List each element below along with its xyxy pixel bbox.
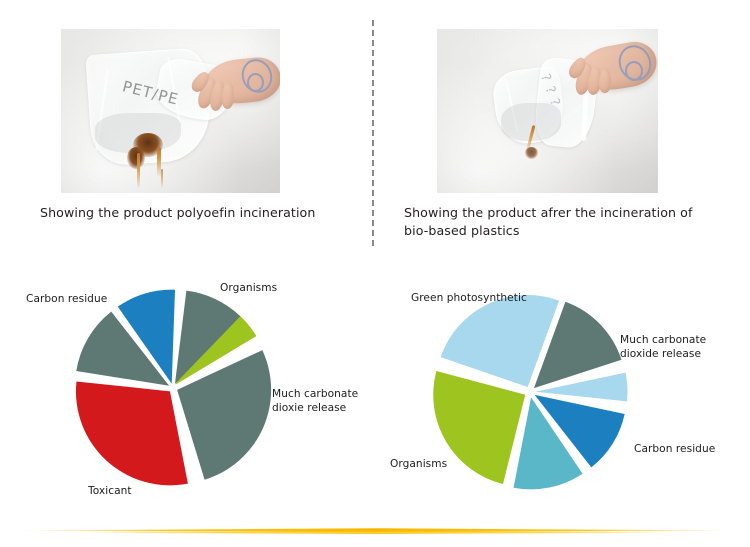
photo-biobased-after-incineration: ? ? ? [437,29,658,193]
pie-slices-left [76,290,271,486]
caption-right: Showing the product afrer the incinerati… [404,204,720,240]
caption-left: Showing the product polyoefin incinerati… [40,204,360,222]
bottom-accent-rule [0,524,750,538]
pie-label-left-organisms: Organisms [220,282,277,296]
pie-label-right-organisms: Organisms [390,458,447,472]
photo-polyolefin-incineration: PET/PE [61,29,280,193]
pie-label-left-toxicant: Toxicant [88,485,132,499]
bottom-rule-svg [0,524,750,538]
photo-vignette [437,29,658,193]
pie-label-left-carbonate: Much carbonate dioxie release [272,388,358,415]
panel-divider [372,20,374,246]
pie-label-right-green-photosynthetic: Green photosynthetic [411,292,527,306]
pie-svg-right [420,288,660,500]
pie-slices-right [433,295,627,489]
pie-label-right-carbon-residue: Carbon residue [634,443,715,457]
figure-canvas: PET/PE ? ? ? [0,0,750,547]
pie-chart-biobased [420,288,660,500]
pie-slice[interactable] [76,381,188,485]
pie-chart-polyolefin [60,288,300,500]
photo-vignette [61,29,280,193]
pie-label-left-carbon-residue: Carbon residue [26,293,107,307]
pie-label-right-carbonate: Much carbonate dioxide release [620,334,706,361]
pie-svg-left [60,288,300,500]
